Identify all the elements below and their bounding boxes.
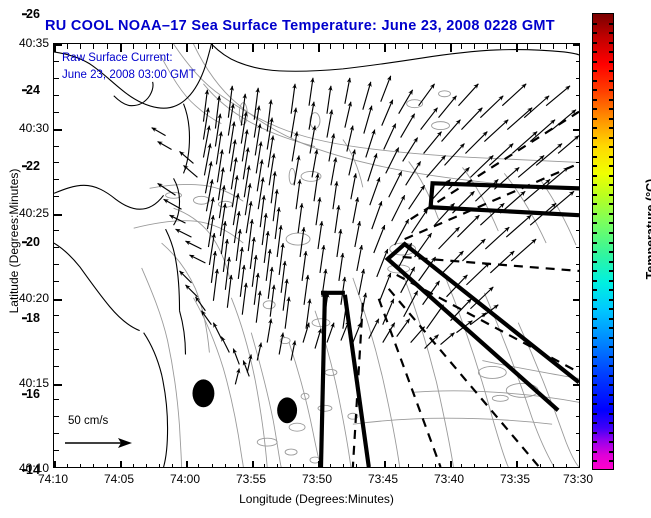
y-axis-minor-tick bbox=[576, 281, 580, 282]
x-axis-tick bbox=[186, 44, 188, 52]
x-axis-minor-tick bbox=[540, 44, 541, 49]
y-axis-minor-tick bbox=[54, 78, 59, 79]
x-axis-minor-tick bbox=[277, 44, 278, 49]
x-tick-label: 74:05 bbox=[104, 472, 134, 486]
radial-bearing-lines bbox=[353, 112, 579, 467]
x-axis-minor-tick bbox=[264, 464, 265, 468]
y-axis-minor-tick bbox=[54, 433, 59, 434]
x-tick-label: 73:30 bbox=[563, 472, 593, 486]
x-axis-tick bbox=[450, 44, 452, 52]
colorbar-minor-tick bbox=[609, 70, 614, 72]
colorbar-minor-tick bbox=[592, 137, 597, 139]
page-title: RU COOL NOAA–17 Sea Surface Temperature:… bbox=[0, 18, 600, 34]
y-axis-tick bbox=[54, 129, 62, 131]
x-axis-minor-tick bbox=[566, 44, 567, 49]
colorbar-minor-tick bbox=[609, 327, 614, 329]
y-axis-minor-tick bbox=[576, 315, 580, 316]
colorbar-minor-tick bbox=[592, 89, 597, 91]
colorbar-minor-tick bbox=[592, 299, 597, 301]
colorbar-minor-tick bbox=[609, 232, 614, 234]
colorbar-minor-tick bbox=[609, 270, 614, 272]
y-axis-minor-tick bbox=[54, 146, 59, 147]
colorbar-tick-label: 20 bbox=[26, 235, 40, 249]
colorbar-minor-tick bbox=[592, 375, 597, 377]
x-axis-minor-tick bbox=[238, 464, 239, 468]
x-axis-title: Longitude (Degrees:Minutes) bbox=[53, 492, 580, 506]
x-axis-minor-tick bbox=[369, 44, 370, 49]
y-axis-minor-tick bbox=[576, 247, 580, 248]
colorbar-minor-tick bbox=[592, 413, 597, 415]
colorbar-minor-tick bbox=[609, 32, 614, 34]
colorbar-minor-tick bbox=[609, 118, 614, 120]
annotation-line-1: Raw Surface Current: bbox=[62, 52, 173, 64]
x-axis-minor-tick bbox=[107, 464, 108, 468]
x-axis-minor-tick bbox=[395, 44, 396, 49]
colorbar-minor-tick bbox=[609, 137, 614, 139]
x-tick-label: 74:00 bbox=[170, 472, 200, 486]
colorbar-minor-tick bbox=[592, 432, 597, 434]
map-plot-area[interactable]: Raw Surface Current: June 23, 2008 03:00… bbox=[53, 43, 580, 468]
x-axis-minor-tick bbox=[487, 44, 488, 49]
x-axis-minor-tick bbox=[303, 44, 304, 49]
colorbar-minor-tick bbox=[592, 318, 597, 320]
colorbar-minor-tick bbox=[592, 146, 597, 148]
x-axis-minor-tick bbox=[487, 464, 488, 468]
x-axis-minor-tick bbox=[303, 464, 304, 468]
colorbar-minor-tick bbox=[592, 327, 597, 329]
x-axis-tick bbox=[186, 461, 188, 468]
map-graphics bbox=[54, 44, 579, 467]
x-axis-minor-tick bbox=[330, 44, 331, 49]
x-axis-tick bbox=[579, 461, 580, 468]
x-axis-tick bbox=[450, 461, 452, 468]
x-axis-minor-tick bbox=[67, 44, 68, 49]
x-axis-tick bbox=[120, 44, 122, 52]
x-axis-minor-tick bbox=[527, 44, 528, 49]
x-axis-tick bbox=[318, 44, 320, 52]
y-axis-minor-tick bbox=[54, 366, 59, 367]
colorbar-minor-tick bbox=[592, 242, 597, 244]
y-axis-minor-tick bbox=[576, 112, 580, 113]
colorbar-minor-tick bbox=[609, 261, 614, 263]
x-axis-minor-tick bbox=[435, 44, 436, 49]
x-tick-label: 74:10 bbox=[38, 472, 68, 486]
colorbar-minor-tick bbox=[609, 23, 614, 25]
x-axis-tick bbox=[516, 461, 518, 468]
x-axis-minor-tick bbox=[172, 44, 173, 49]
colorbar-minor-tick bbox=[592, 365, 597, 367]
colorbar-minor-tick bbox=[592, 127, 597, 129]
x-axis-minor-tick bbox=[408, 44, 409, 49]
vector-scale-label: 50 cm/s bbox=[68, 415, 108, 427]
x-axis-minor-tick bbox=[159, 44, 160, 49]
colorbar-minor-tick bbox=[609, 432, 614, 434]
colorbar-minor-tick bbox=[592, 289, 597, 291]
colorbar-minor-tick bbox=[592, 346, 597, 348]
colorbar-minor-tick bbox=[609, 356, 614, 358]
y-axis-minor-tick bbox=[576, 416, 580, 417]
y-axis-minor-tick bbox=[54, 247, 59, 248]
x-axis-minor-tick bbox=[343, 464, 344, 468]
colorbar bbox=[592, 13, 614, 470]
x-axis-minor-tick bbox=[93, 44, 94, 49]
x-axis-minor-tick bbox=[67, 464, 68, 468]
colorbar-minor-tick bbox=[592, 337, 597, 339]
x-axis-tick bbox=[252, 44, 254, 52]
colorbar-minor-tick bbox=[609, 403, 614, 405]
y-axis-minor-tick bbox=[54, 230, 59, 231]
x-axis-minor-tick bbox=[408, 464, 409, 468]
x-tick-label: 73:45 bbox=[368, 472, 398, 486]
x-axis-minor-tick bbox=[343, 44, 344, 49]
colorbar-minor-tick bbox=[609, 42, 614, 44]
x-axis-minor-tick bbox=[172, 464, 173, 468]
x-axis-tick bbox=[318, 461, 320, 468]
x-axis-minor-tick bbox=[422, 464, 423, 468]
colorbar-minor-tick bbox=[609, 99, 614, 101]
colorbar-minor-tick bbox=[592, 441, 597, 443]
colorbar-minor-tick bbox=[592, 384, 597, 386]
y-tick-label: 40:30 bbox=[1, 121, 49, 135]
x-axis-minor-tick bbox=[146, 464, 147, 468]
colorbar-minor-tick bbox=[592, 156, 597, 158]
x-axis-minor-tick bbox=[566, 464, 567, 468]
y-axis-minor-tick bbox=[576, 162, 580, 163]
x-axis-minor-tick bbox=[264, 44, 265, 49]
x-axis-tick bbox=[516, 44, 518, 52]
x-axis-minor-tick bbox=[290, 464, 291, 468]
colorbar-minor-tick bbox=[592, 270, 597, 272]
y-axis-tick bbox=[573, 214, 580, 216]
x-axis-minor-tick bbox=[198, 44, 199, 49]
colorbar-minor-tick bbox=[592, 175, 597, 177]
x-axis-minor-tick bbox=[80, 464, 81, 468]
y-axis-minor-tick bbox=[54, 332, 59, 333]
colorbar-minor-tick bbox=[592, 61, 597, 63]
colorbar-minor-tick bbox=[609, 242, 614, 244]
x-axis-minor-tick bbox=[212, 44, 213, 49]
colorbar-minor-tick bbox=[609, 175, 614, 177]
x-axis-minor-tick bbox=[356, 464, 357, 468]
x-axis-minor-tick bbox=[356, 44, 357, 49]
colorbar-tick-label: 24 bbox=[26, 83, 40, 97]
colorbar-minor-tick bbox=[592, 70, 597, 72]
colorbar-minor-tick bbox=[609, 89, 614, 91]
x-axis-minor-tick bbox=[198, 464, 199, 468]
colorbar-minor-tick bbox=[609, 108, 614, 110]
x-axis-tick bbox=[120, 461, 122, 468]
y-axis-minor-tick bbox=[54, 196, 59, 197]
y-axis-minor-tick bbox=[576, 146, 580, 147]
x-tick-label: 73:55 bbox=[236, 472, 266, 486]
colorbar-minor-tick bbox=[609, 80, 614, 82]
y-axis-tick bbox=[573, 467, 580, 468]
colorbar-minor-tick bbox=[609, 184, 614, 186]
colorbar-minor-tick bbox=[609, 422, 614, 424]
annotation-line-2: June 23, 2008 03:00 GMT bbox=[62, 69, 196, 81]
colorbar-minor-tick bbox=[592, 460, 597, 462]
y-axis-title: Latitude (Degrees:Minutes) bbox=[7, 141, 21, 341]
x-axis-minor-tick bbox=[435, 464, 436, 468]
y-axis-minor-tick bbox=[54, 61, 59, 62]
y-axis-minor-tick bbox=[54, 315, 59, 316]
x-axis-tick bbox=[384, 461, 386, 468]
colorbar-tick-label: 16 bbox=[26, 387, 40, 401]
colorbar-minor-tick bbox=[609, 346, 614, 348]
y-axis-tick bbox=[54, 214, 62, 216]
sst-current-map-figure: RU COOL NOAA–17 Sea Surface Temperature:… bbox=[0, 0, 651, 518]
x-axis-minor-tick bbox=[225, 464, 226, 468]
colorbar-minor-tick bbox=[609, 251, 614, 253]
colorbar-minor-tick bbox=[592, 280, 597, 282]
radar-station-marker bbox=[277, 397, 297, 423]
colorbar-minor-tick bbox=[609, 280, 614, 282]
y-axis-minor-tick bbox=[576, 196, 580, 197]
colorbar-minor-tick bbox=[609, 127, 614, 129]
x-axis-minor-tick bbox=[369, 464, 370, 468]
vector-scale-legend: 50 cm/s bbox=[62, 415, 170, 457]
colorbar-minor-tick bbox=[609, 194, 614, 196]
colorbar-minor-tick bbox=[592, 51, 597, 53]
colorbar-minor-tick bbox=[592, 108, 597, 110]
colorbar-minor-tick bbox=[592, 403, 597, 405]
colorbar-minor-tick bbox=[609, 394, 614, 396]
x-axis-minor-tick bbox=[159, 464, 160, 468]
x-axis-minor-tick bbox=[553, 44, 554, 49]
colorbar-minor-tick bbox=[609, 222, 614, 224]
y-axis-tick bbox=[573, 299, 580, 301]
colorbar-tick-label: 26 bbox=[26, 7, 40, 21]
colorbar-tick-label: 14 bbox=[26, 463, 40, 477]
colorbar-minor-tick bbox=[609, 165, 614, 167]
colorbar-minor-tick bbox=[592, 99, 597, 101]
colorbar-minor-tick bbox=[592, 118, 597, 120]
colorbar-minor-tick bbox=[592, 80, 597, 82]
colorbar-minor-tick bbox=[592, 261, 597, 263]
y-axis-minor-tick bbox=[576, 95, 580, 96]
colorbar-minor-tick bbox=[609, 441, 614, 443]
colorbar-minor-tick bbox=[592, 356, 597, 358]
right-arrow-icon bbox=[64, 435, 134, 451]
x-axis-tick bbox=[252, 461, 254, 468]
y-axis-minor-tick bbox=[576, 399, 580, 400]
x-axis-minor-tick bbox=[500, 464, 501, 468]
coastline bbox=[54, 44, 579, 467]
y-axis-minor-tick bbox=[54, 281, 59, 282]
y-axis-minor-tick bbox=[576, 264, 580, 265]
x-axis-minor-tick bbox=[422, 44, 423, 49]
x-axis-minor-tick bbox=[461, 44, 462, 49]
y-axis-minor-tick bbox=[576, 366, 580, 367]
y-axis-tick bbox=[573, 44, 580, 46]
y-axis-minor-tick bbox=[576, 450, 580, 451]
colorbar-minor-tick bbox=[609, 460, 614, 462]
x-axis-minor-tick bbox=[277, 464, 278, 468]
x-axis-minor-tick bbox=[527, 464, 528, 468]
x-axis-minor-tick bbox=[133, 44, 134, 49]
colorbar-minor-tick bbox=[592, 394, 597, 396]
y-axis-minor-tick bbox=[54, 179, 59, 180]
x-axis-minor-tick bbox=[107, 44, 108, 49]
y-axis-minor-tick bbox=[54, 162, 59, 163]
colorbar-minor-tick bbox=[592, 203, 597, 205]
y-axis-minor-tick bbox=[576, 61, 580, 62]
y-axis-minor-tick bbox=[54, 95, 59, 96]
y-axis-tick bbox=[54, 299, 62, 301]
colorbar-minor-tick bbox=[609, 337, 614, 339]
colorbar-minor-tick bbox=[592, 23, 597, 25]
x-tick-label: 73:35 bbox=[500, 472, 530, 486]
colorbar-minor-tick bbox=[592, 32, 597, 34]
x-axis-minor-tick bbox=[474, 44, 475, 49]
colorbar-minor-tick bbox=[609, 318, 614, 320]
radar-station-marker bbox=[192, 379, 214, 407]
colorbar-minor-tick bbox=[609, 365, 614, 367]
x-axis-minor-tick bbox=[474, 464, 475, 468]
colorbar-minor-tick bbox=[609, 413, 614, 415]
x-axis-minor-tick bbox=[225, 44, 226, 49]
y-axis-minor-tick bbox=[54, 450, 59, 451]
x-axis-minor-tick bbox=[133, 464, 134, 468]
colorbar-minor-tick bbox=[609, 156, 614, 158]
y-axis-minor-tick bbox=[54, 399, 59, 400]
colorbar-minor-tick bbox=[592, 308, 597, 310]
y-axis-minor-tick bbox=[576, 349, 580, 350]
y-axis-minor-tick bbox=[576, 332, 580, 333]
colorbar-minor-tick bbox=[609, 299, 614, 301]
x-axis-tick bbox=[579, 44, 580, 52]
y-axis-tick bbox=[54, 384, 62, 386]
colorbar-minor-tick bbox=[592, 451, 597, 453]
y-axis-minor-tick bbox=[576, 230, 580, 231]
colorbar-minor-tick bbox=[609, 51, 614, 53]
y-axis-minor-tick bbox=[54, 349, 59, 350]
x-axis-minor-tick bbox=[540, 464, 541, 468]
x-axis-minor-tick bbox=[93, 464, 94, 468]
x-axis-minor-tick bbox=[238, 44, 239, 49]
y-axis-minor-tick bbox=[54, 264, 59, 265]
y-axis-tick bbox=[54, 44, 62, 46]
x-axis-minor-tick bbox=[146, 44, 147, 49]
y-axis-tick bbox=[573, 384, 580, 386]
colorbar-minor-tick bbox=[592, 232, 597, 234]
x-axis-tick bbox=[384, 44, 386, 52]
colorbar-minor-tick bbox=[609, 375, 614, 377]
colorbar-minor-tick bbox=[609, 213, 614, 215]
colorbar-minor-tick bbox=[609, 146, 614, 148]
y-axis-tick bbox=[54, 467, 62, 468]
y-axis-minor-tick bbox=[54, 416, 59, 417]
y-axis-minor-tick bbox=[54, 112, 59, 113]
colorbar-minor-tick bbox=[592, 165, 597, 167]
x-axis-minor-tick bbox=[212, 464, 213, 468]
y-tick-label: 40:15 bbox=[1, 376, 49, 390]
colorbar-minor-tick bbox=[592, 194, 597, 196]
y-tick-label: 40:35 bbox=[1, 36, 49, 50]
y-axis-tick bbox=[573, 129, 580, 131]
y-axis-minor-tick bbox=[576, 78, 580, 79]
x-axis-minor-tick bbox=[500, 44, 501, 49]
colorbar-minor-tick bbox=[609, 203, 614, 205]
colorbar-minor-tick bbox=[592, 184, 597, 186]
colorbar-minor-tick bbox=[609, 308, 614, 310]
colorbar-tick-label: 18 bbox=[26, 311, 40, 325]
x-axis-minor-tick bbox=[553, 464, 554, 468]
x-axis-minor-tick bbox=[461, 464, 462, 468]
colorbar-minor-tick bbox=[609, 451, 614, 453]
colorbar-minor-tick bbox=[609, 384, 614, 386]
colorbar-minor-tick bbox=[609, 61, 614, 63]
colorbar-minor-tick bbox=[609, 289, 614, 291]
colorbar-minor-tick bbox=[592, 222, 597, 224]
colorbar-minor-tick bbox=[592, 213, 597, 215]
colorbar-tick-label: 22 bbox=[26, 159, 40, 173]
colorbar-minor-tick bbox=[592, 42, 597, 44]
colorbar-minor-tick bbox=[592, 422, 597, 424]
x-axis-minor-tick bbox=[330, 464, 331, 468]
x-tick-label: 73:40 bbox=[434, 472, 464, 486]
x-axis-minor-tick bbox=[290, 44, 291, 49]
y-axis-minor-tick bbox=[576, 179, 580, 180]
x-tick-label: 73:50 bbox=[302, 472, 332, 486]
x-axis-minor-tick bbox=[80, 44, 81, 49]
y-axis-minor-tick bbox=[576, 433, 580, 434]
colorbar-minor-tick bbox=[592, 251, 597, 253]
colorbar-title: Temperature (°C) bbox=[644, 149, 651, 309]
x-axis-minor-tick bbox=[395, 464, 396, 468]
radar-station-markers bbox=[192, 379, 297, 423]
